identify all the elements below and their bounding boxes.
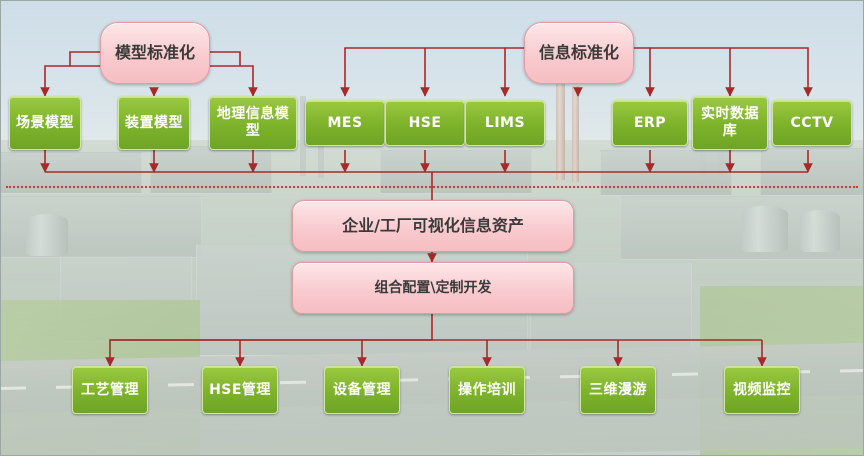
node-visual-asset[interactable]: 企业/工厂可视化信息资产 <box>292 200 574 252</box>
node-video-surveillance[interactable]: 视频监控 <box>724 366 800 414</box>
node-hse-label: HSE <box>386 115 464 132</box>
node-process-mgmt-label: 工艺管理 <box>73 382 147 399</box>
node-hse[interactable]: HSE <box>385 100 465 146</box>
node-device-model-label: 装置模型 <box>119 115 189 132</box>
node-geo-info-model-label: 地理信息模型 <box>210 106 296 139</box>
node-process-mgmt[interactable]: 工艺管理 <box>72 366 148 414</box>
node-combo-config[interactable]: 组合配置\定制开发 <box>292 262 574 314</box>
node-scene-model-label: 场景模型 <box>10 115 80 132</box>
section-divider <box>6 186 858 188</box>
node-hse-mgmt-label: HSE管理 <box>203 382 277 399</box>
node-3d-roaming-label: 三维漫游 <box>581 382 655 399</box>
node-device-model[interactable]: 装置模型 <box>118 96 190 150</box>
node-operation-training-label: 操作培训 <box>450 382 524 399</box>
node-cctv-label: CCTV <box>773 115 851 132</box>
node-info-std[interactable]: 信息标准化 <box>524 22 634 84</box>
node-visual-asset-label: 企业/工厂可视化信息资产 <box>293 217 573 236</box>
diagram-canvas: 模型标准化 信息标准化 场景模型 装置模型 地理信息模型 MES HSE LIM… <box>0 0 864 456</box>
node-mes[interactable]: MES <box>305 100 385 146</box>
node-erp-label: ERP <box>613 115 687 132</box>
node-video-surveillance-label: 视频监控 <box>725 382 799 399</box>
node-operation-training[interactable]: 操作培训 <box>449 366 525 414</box>
node-combo-config-label: 组合配置\定制开发 <box>293 280 573 297</box>
node-model-std-label: 模型标准化 <box>101 44 209 63</box>
node-mes-label: MES <box>306 115 384 132</box>
node-realtime-db[interactable]: 实时数据库 <box>692 96 768 150</box>
node-geo-info-model[interactable]: 地理信息模型 <box>209 96 297 150</box>
node-cctv[interactable]: CCTV <box>772 100 852 146</box>
node-3d-roaming[interactable]: 三维漫游 <box>580 366 656 414</box>
node-hse-mgmt[interactable]: HSE管理 <box>202 366 278 414</box>
node-lims[interactable]: LIMS <box>465 100 545 146</box>
node-model-std[interactable]: 模型标准化 <box>100 22 210 84</box>
node-equipment-mgmt-label: 设备管理 <box>325 382 399 399</box>
node-realtime-db-label: 实时数据库 <box>693 106 767 139</box>
node-erp[interactable]: ERP <box>612 100 688 146</box>
node-equipment-mgmt[interactable]: 设备管理 <box>324 366 400 414</box>
node-info-std-label: 信息标准化 <box>525 44 633 63</box>
node-lims-label: LIMS <box>466 115 544 132</box>
node-scene-model[interactable]: 场景模型 <box>9 96 81 150</box>
